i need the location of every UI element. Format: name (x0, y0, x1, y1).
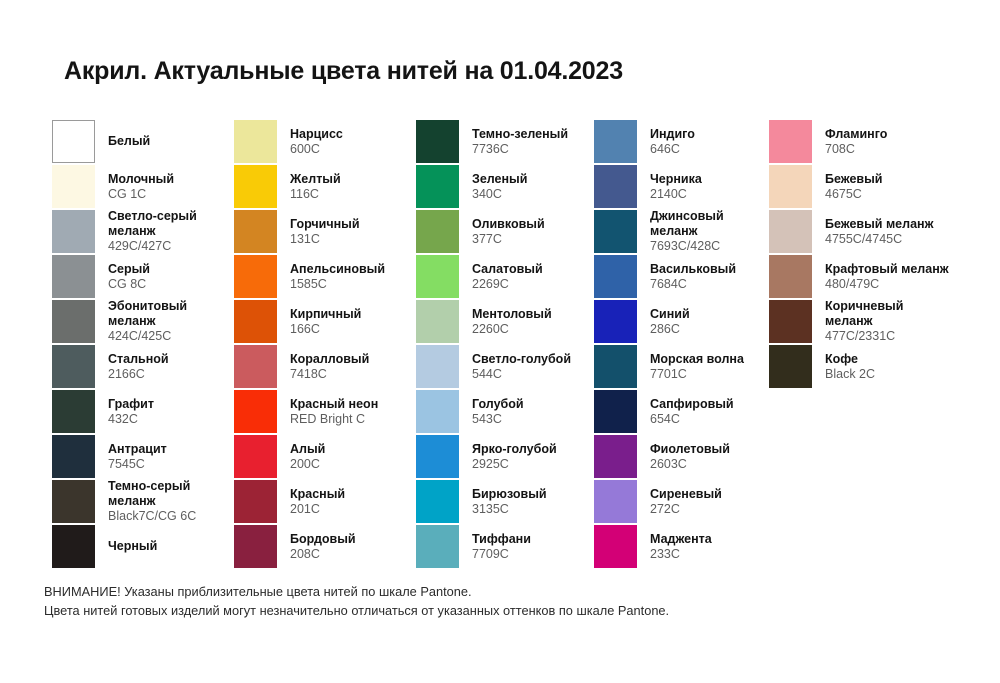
swatch-name: Белый (108, 134, 230, 149)
swatch-name: Синий (650, 307, 766, 322)
swatch-labels: Белый (108, 120, 230, 163)
swatch-labels: Эбонитовый меланж424C/425C (108, 300, 230, 343)
swatch-pantone-code: 7693C/428C (650, 239, 766, 254)
swatch-labels: Ментоловый2260C (472, 300, 590, 343)
swatch-labels: МолочныйCG 1C (108, 165, 230, 208)
swatch-name: Кофе (825, 352, 952, 367)
swatch-pantone-code: RED Bright C (290, 412, 412, 427)
swatch-row: Фламинго708C (769, 120, 952, 163)
swatch-row: Крафтовый меланж480/479C (769, 255, 952, 298)
color-swatch[interactable] (416, 480, 459, 523)
swatch-row: Ментоловый2260C (416, 300, 590, 343)
swatch-pantone-code: 708C (825, 142, 952, 157)
swatch-name: Красный неон (290, 397, 412, 412)
footer-note: ВНИМАНИЕ! Указаны приблизительные цвета … (44, 582, 944, 620)
swatch-labels: Джинсовый меланж7693C/428C (650, 210, 766, 253)
swatch-row: Горчичный131C (234, 210, 412, 253)
swatch-row: Зеленый340C (416, 165, 590, 208)
swatch-pantone-code: 2140C (650, 187, 766, 202)
swatch-row: Графит432C (52, 390, 230, 433)
swatch-labels: Синий286C (650, 300, 766, 343)
swatch-row: Салатовый2269C (416, 255, 590, 298)
swatch-pantone-code: 200C (290, 457, 412, 472)
swatch-labels: Темно-зеленый7736C (472, 120, 590, 163)
swatch-pantone-code: 7701C (650, 367, 766, 382)
color-swatch[interactable] (769, 255, 812, 298)
swatch-labels: Бирюзовый3135C (472, 480, 590, 523)
swatch-row: Индиго646C (594, 120, 766, 163)
swatch-row: Темно-серый меланжBlack7C/CG 6C (52, 480, 230, 523)
swatch-row: Черный (52, 525, 230, 568)
swatch-name: Эбонитовый меланж (108, 299, 228, 329)
swatch-row: Коралловый7418C (234, 345, 412, 388)
color-swatch[interactable] (594, 345, 637, 388)
swatch-pantone-code: 2603C (650, 457, 766, 472)
swatch-labels: Апельсиновый1585C (290, 255, 412, 298)
color-swatch[interactable] (416, 435, 459, 478)
swatch-pantone-code: 377C (472, 232, 590, 247)
swatch-name: Сапфировый (650, 397, 766, 412)
swatch-row: Желтый116C (234, 165, 412, 208)
swatch-name: Светло-серый меланж (108, 209, 228, 239)
swatch-row: Кирпичный166C (234, 300, 412, 343)
swatch-pantone-code: 646C (650, 142, 766, 157)
swatch-labels: Крафтовый меланж480/479C (825, 255, 952, 298)
swatch-pantone-code: 286C (650, 322, 766, 337)
swatch-labels: Стальной2166C (108, 345, 230, 388)
swatch-labels: Темно-серый меланжBlack7C/CG 6C (108, 480, 230, 523)
color-swatch[interactable] (234, 525, 277, 568)
color-swatch[interactable] (234, 210, 277, 253)
footer-line-2: Цвета нитей готовых изделий могут незнач… (44, 601, 944, 620)
swatch-labels: Морская волна7701C (650, 345, 766, 388)
swatch-labels: Оливковый377C (472, 210, 590, 253)
swatch-row: Светло-серый меланж429C/427C (52, 210, 230, 253)
swatch-row: Черника2140C (594, 165, 766, 208)
color-swatch[interactable] (52, 120, 95, 163)
swatch-row: Джинсовый меланж7693C/428C (594, 210, 766, 253)
swatch-labels: КофеBlack 2C (825, 345, 952, 388)
swatch-name: Черный (108, 539, 230, 554)
swatch-labels: Черный (108, 525, 230, 568)
swatch-pantone-code: 429C/427C (108, 239, 230, 254)
swatch-row: МолочныйCG 1C (52, 165, 230, 208)
color-chart-page: Акрил. Актуальные цвета нитей на 01.04.2… (0, 0, 1000, 683)
swatch-row: Красный201C (234, 480, 412, 523)
swatch-row: Оливковый377C (416, 210, 590, 253)
swatch-labels: Фламинго708C (825, 120, 952, 163)
swatch-labels: Индиго646C (650, 120, 766, 163)
swatch-name: Антрацит (108, 442, 230, 457)
swatch-labels: Нарцисс600C (290, 120, 412, 163)
swatch-name: Бордовый (290, 532, 412, 547)
swatch-row: Нарцисс600C (234, 120, 412, 163)
color-swatch[interactable] (416, 120, 459, 163)
swatch-labels: Красный неонRED Bright C (290, 390, 412, 433)
swatch-labels: Антрацит7545C (108, 435, 230, 478)
page-title: Акрил. Актуальные цвета нитей на 01.04.2… (64, 57, 623, 86)
swatch-pantone-code: 424C/425C (108, 329, 230, 344)
swatch-name: Крафтовый меланж (825, 262, 952, 277)
color-swatch[interactable] (416, 255, 459, 298)
color-swatch[interactable] (416, 210, 459, 253)
swatch-pantone-code: 201C (290, 502, 412, 517)
swatch-pantone-code: 7418C (290, 367, 412, 382)
swatch-row: Стальной2166C (52, 345, 230, 388)
swatch-name: Темно-зеленый (472, 127, 590, 142)
swatch-name: Бежевый (825, 172, 952, 187)
swatch-pantone-code: 1585C (290, 277, 412, 292)
swatch-row: Апельсиновый1585C (234, 255, 412, 298)
swatch-labels: Бежевый4675C (825, 165, 952, 208)
swatch-row: Бежевый меланж4755C/4745C (769, 210, 952, 253)
swatch-labels: Бордовый208C (290, 525, 412, 568)
color-swatch[interactable] (234, 165, 277, 208)
color-swatch[interactable] (52, 255, 95, 298)
swatch-pantone-code: 233C (650, 547, 766, 562)
color-swatch[interactable] (52, 525, 95, 568)
swatch-pantone-code: CG 8C (108, 277, 230, 292)
swatch-name: Горчичный (290, 217, 412, 232)
color-swatch[interactable] (769, 300, 812, 343)
color-swatch[interactable] (594, 300, 637, 343)
swatch-pantone-code: 654C (650, 412, 766, 427)
color-swatch[interactable] (416, 165, 459, 208)
color-swatch[interactable] (594, 210, 637, 253)
color-swatch[interactable] (594, 525, 637, 568)
color-swatch[interactable] (52, 390, 95, 433)
color-swatch[interactable] (769, 210, 812, 253)
swatch-labels: Сиреневый272C (650, 480, 766, 523)
color-swatch[interactable] (769, 165, 812, 208)
swatch-labels: СерыйCG 8C (108, 255, 230, 298)
swatch-row: Бирюзовый3135C (416, 480, 590, 523)
swatch-name: Кирпичный (290, 307, 412, 322)
swatch-pantone-code: 166C (290, 322, 412, 337)
swatch-pantone-code: 7545C (108, 457, 230, 472)
swatch-row: Васильковый7684C (594, 255, 766, 298)
swatch-name: Васильковый (650, 262, 766, 277)
color-swatch[interactable] (594, 120, 637, 163)
color-swatch[interactable] (52, 435, 95, 478)
swatch-labels: Фиолетовый2603C (650, 435, 766, 478)
swatch-labels: Бежевый меланж4755C/4745C (825, 210, 952, 253)
swatch-name: Графит (108, 397, 230, 412)
swatch-labels: Кирпичный166C (290, 300, 412, 343)
swatch-labels: Желтый116C (290, 165, 412, 208)
swatch-name: Джинсовый меланж (650, 209, 766, 239)
color-swatch[interactable] (52, 210, 95, 253)
color-swatch[interactable] (234, 255, 277, 298)
swatch-pantone-code: 340C (472, 187, 590, 202)
swatch-row: Тиффани7709C (416, 525, 590, 568)
swatch-row: Синий286C (594, 300, 766, 343)
swatch-labels: Графит432C (108, 390, 230, 433)
swatch-name: Бежевый меланж (825, 217, 952, 232)
swatch-row: Белый (52, 120, 230, 163)
color-swatch[interactable] (52, 300, 95, 343)
swatch-pantone-code: 543C (472, 412, 590, 427)
swatch-name: Коричневый меланж (825, 299, 945, 329)
color-swatch[interactable] (234, 435, 277, 478)
swatch-name: Зеленый (472, 172, 590, 187)
swatch-pantone-code: CG 1C (108, 187, 230, 202)
swatch-pantone-code: 544C (472, 367, 590, 382)
swatch-pantone-code: 2260C (472, 322, 590, 337)
swatch-name: Коралловый (290, 352, 412, 367)
swatch-pantone-code: 480/479C (825, 277, 952, 292)
swatch-pantone-code: 7709C (472, 547, 590, 562)
color-swatch[interactable] (52, 165, 95, 208)
swatch-name: Темно-серый меланж (108, 479, 228, 509)
swatch-labels: Черника2140C (650, 165, 766, 208)
color-swatch[interactable] (416, 390, 459, 433)
swatch-row: Алый200C (234, 435, 412, 478)
swatch-row: КофеBlack 2C (769, 345, 952, 388)
swatch-row: Светло-голубой544C (416, 345, 590, 388)
swatch-name: Ярко-голубой (472, 442, 590, 457)
swatch-labels: Сапфировый654C (650, 390, 766, 433)
swatch-name: Салатовый (472, 262, 590, 277)
swatch-pantone-code: 7736C (472, 142, 590, 157)
color-swatch[interactable] (416, 345, 459, 388)
swatch-name: Желтый (290, 172, 412, 187)
color-swatch[interactable] (594, 390, 637, 433)
color-swatch[interactable] (234, 300, 277, 343)
swatch-pantone-code: 3135C (472, 502, 590, 517)
swatch-name: Фиолетовый (650, 442, 766, 457)
swatch-labels: Ярко-голубой2925C (472, 435, 590, 478)
swatch-name: Фламинго (825, 127, 952, 142)
swatch-pantone-code: 477C/2331C (825, 329, 952, 344)
color-swatch[interactable] (594, 255, 637, 298)
swatch-name: Красный (290, 487, 412, 502)
swatch-name: Нарцисс (290, 127, 412, 142)
swatch-row: Голубой543C (416, 390, 590, 433)
swatch-name: Морская волна (650, 352, 766, 367)
swatch-pantone-code: 600C (290, 142, 412, 157)
swatch-row: Морская волна7701C (594, 345, 766, 388)
swatch-labels: Алый200C (290, 435, 412, 478)
swatch-pantone-code: 116C (290, 187, 412, 202)
swatch-row: Фиолетовый2603C (594, 435, 766, 478)
swatch-row: Коричневый меланж477C/2331C (769, 300, 952, 343)
swatch-pantone-code: 2166C (108, 367, 230, 382)
swatch-row: Темно-зеленый7736C (416, 120, 590, 163)
swatch-pantone-code: 272C (650, 502, 766, 517)
swatch-name: Светло-голубой (472, 352, 590, 367)
swatch-labels: Коралловый7418C (290, 345, 412, 388)
swatch-labels: Коричневый меланж477C/2331C (825, 300, 952, 343)
swatch-name: Ментоловый (472, 307, 590, 322)
swatch-row: Красный неонRED Bright C (234, 390, 412, 433)
swatch-labels: Васильковый7684C (650, 255, 766, 298)
swatch-name: Молочный (108, 172, 230, 187)
footer-line-1: ВНИМАНИЕ! Указаны приблизительные цвета … (44, 582, 944, 601)
swatch-labels: Голубой543C (472, 390, 590, 433)
swatch-name: Черника (650, 172, 766, 187)
swatch-labels: Светло-серый меланж429C/427C (108, 210, 230, 253)
swatch-row: Сиреневый272C (594, 480, 766, 523)
swatch-row: Сапфировый654C (594, 390, 766, 433)
swatch-row: Бордовый208C (234, 525, 412, 568)
color-swatch[interactable] (234, 120, 277, 163)
swatch-labels: Светло-голубой544C (472, 345, 590, 388)
swatch-row: Ярко-голубой2925C (416, 435, 590, 478)
swatch-row: Эбонитовый меланж424C/425C (52, 300, 230, 343)
color-swatch[interactable] (52, 345, 95, 388)
swatch-name: Сиреневый (650, 487, 766, 502)
swatch-name: Голубой (472, 397, 590, 412)
swatch-row: СерыйCG 8C (52, 255, 230, 298)
color-swatch[interactable] (594, 435, 637, 478)
color-swatch[interactable] (769, 345, 812, 388)
color-swatch[interactable] (52, 480, 95, 523)
swatch-pantone-code: Black 2C (825, 367, 952, 382)
swatch-labels: Тиффани7709C (472, 525, 590, 568)
swatch-row: Маджента233C (594, 525, 766, 568)
swatch-pantone-code: 432C (108, 412, 230, 427)
swatch-pantone-code: 4755C/4745C (825, 232, 952, 247)
swatch-pantone-code: 2269C (472, 277, 590, 292)
swatch-row: Антрацит7545C (52, 435, 230, 478)
swatch-labels: Салатовый2269C (472, 255, 590, 298)
swatch-labels: Красный201C (290, 480, 412, 523)
color-swatch[interactable] (234, 390, 277, 433)
color-swatch[interactable] (234, 480, 277, 523)
swatch-pantone-code: 4675C (825, 187, 952, 202)
swatch-name: Оливковый (472, 217, 590, 232)
color-swatch[interactable] (594, 165, 637, 208)
swatch-name: Стальной (108, 352, 230, 367)
swatch-pantone-code: 2925C (472, 457, 590, 472)
color-swatch[interactable] (234, 345, 277, 388)
swatch-pantone-code: Black7C/CG 6C (108, 509, 230, 524)
swatch-name: Маджента (650, 532, 766, 547)
swatch-name: Серый (108, 262, 230, 277)
color-swatch[interactable] (594, 480, 637, 523)
swatch-name: Алый (290, 442, 412, 457)
color-swatch[interactable] (769, 120, 812, 163)
swatch-name: Тиффани (472, 532, 590, 547)
swatch-name: Апельсиновый (290, 262, 412, 277)
color-swatch[interactable] (416, 525, 459, 568)
swatch-row: Бежевый4675C (769, 165, 952, 208)
swatch-name: Бирюзовый (472, 487, 590, 502)
swatch-name: Индиго (650, 127, 766, 142)
swatch-pantone-code: 208C (290, 547, 412, 562)
swatch-labels: Маджента233C (650, 525, 766, 568)
swatch-pantone-code: 131C (290, 232, 412, 247)
swatch-pantone-code: 7684C (650, 277, 766, 292)
color-swatch[interactable] (416, 300, 459, 343)
swatch-labels: Зеленый340C (472, 165, 590, 208)
swatch-labels: Горчичный131C (290, 210, 412, 253)
